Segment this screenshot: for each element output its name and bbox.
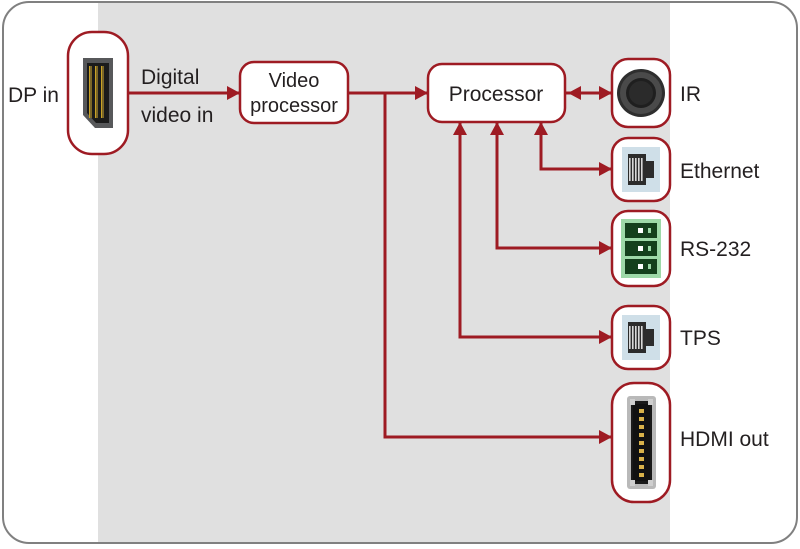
port-dp-in[interactable]: [68, 32, 128, 154]
block-video-processor-label-line2: processor: [250, 95, 338, 117]
rj45-connector-icon: [622, 147, 660, 192]
block-processor-label: Processor: [449, 83, 544, 106]
ir-jack-icon: [617, 69, 665, 117]
block-video-processor[interactable]: Video processor: [240, 62, 348, 123]
hdmi-connector-icon: [627, 396, 656, 489]
block-video-processor-label-line1: Video: [269, 70, 320, 92]
displayport-connector-icon: [83, 58, 113, 128]
edge-label-digital-line2: video in: [141, 104, 213, 127]
port-label-tps: TPS: [680, 327, 721, 350]
port-label-ethernet: Ethernet: [680, 160, 760, 183]
port-label-ir: IR: [680, 83, 701, 106]
port-hdmi-out[interactable]: [612, 383, 670, 502]
rj45-connector-icon: [622, 315, 660, 360]
port-rs-232[interactable]: [612, 211, 670, 286]
port-ir[interactable]: [612, 59, 670, 127]
port-ethernet[interactable]: [612, 138, 670, 201]
port-label-dp-in: DP in: [8, 84, 59, 107]
port-tps[interactable]: [612, 306, 670, 369]
block-processor[interactable]: Processor: [428, 64, 565, 122]
edge-label-digital-line1: Digital: [141, 66, 199, 89]
block-diagram: DP in Digital video in Video processor P…: [0, 0, 800, 549]
port-label-hdmi-out: HDMI out: [680, 428, 769, 451]
terminal-block-icon: [621, 219, 661, 278]
port-label-rs-232: RS-232: [680, 238, 751, 261]
diagram-canvas: DP in Digital video in Video processor P…: [0, 0, 800, 549]
